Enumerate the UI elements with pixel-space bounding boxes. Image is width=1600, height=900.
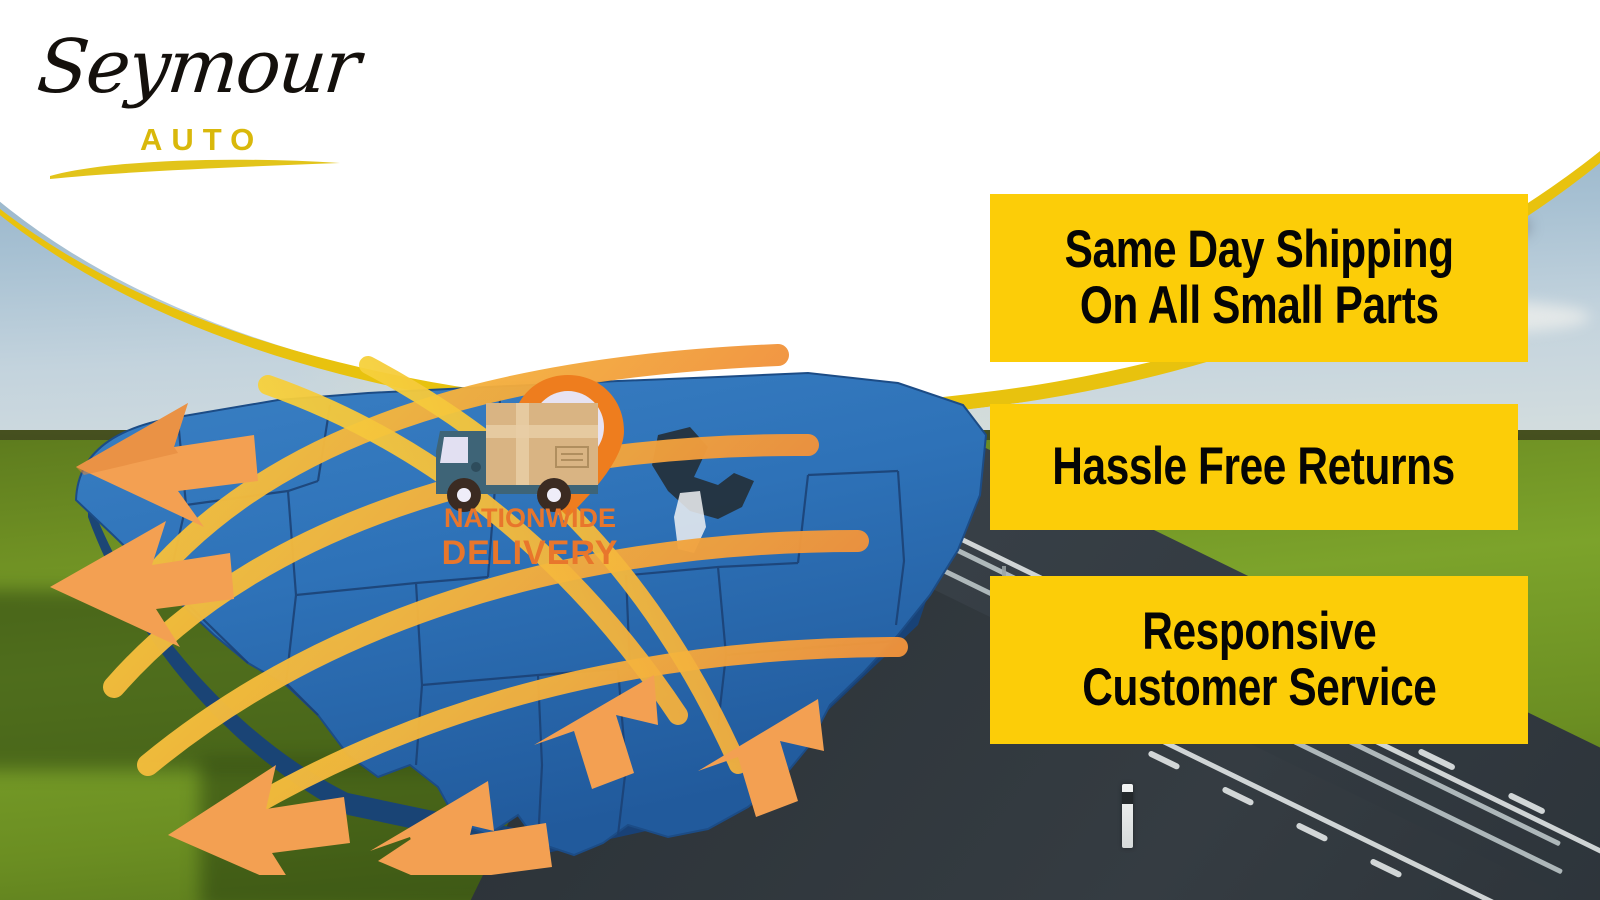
cloud <box>1290 120 1550 160</box>
feature-3-line-2: Customer Service <box>1082 660 1436 716</box>
feature-3-line-1: Responsive <box>1142 604 1376 660</box>
brand-logo[interactable]: Seymour AUTO <box>34 26 344 176</box>
feature-box-responsive-customer-service[interactable]: Responsive Customer Service <box>990 576 1528 744</box>
caption-line-1: NATIONWIDE <box>430 505 630 532</box>
feature-2-line-1: Hassle Free Returns <box>1053 439 1455 495</box>
feature-1-line-2: On All Small Parts <box>1080 278 1439 334</box>
brand-subtitle: AUTO <box>140 122 263 158</box>
caption-line-2: DELIVERY <box>430 536 630 570</box>
roadside-delineator <box>1122 784 1133 848</box>
feature-box-same-day-shipping[interactable]: Same Day Shipping On All Small Parts <box>990 194 1528 362</box>
feature-1-line-1: Same Day Shipping <box>1064 222 1453 278</box>
nationwide-delivery-caption: NATIONWIDE DELIVERY <box>430 505 630 570</box>
cloud <box>1080 150 1350 198</box>
brand-name: Seymour <box>33 24 362 110</box>
cargo-box <box>486 403 598 485</box>
logo-swoosh-icon <box>48 154 342 180</box>
promo-banner: Seymour AUTO <box>0 0 1600 900</box>
feature-box-hassle-free-returns[interactable]: Hassle Free Returns <box>990 404 1518 530</box>
